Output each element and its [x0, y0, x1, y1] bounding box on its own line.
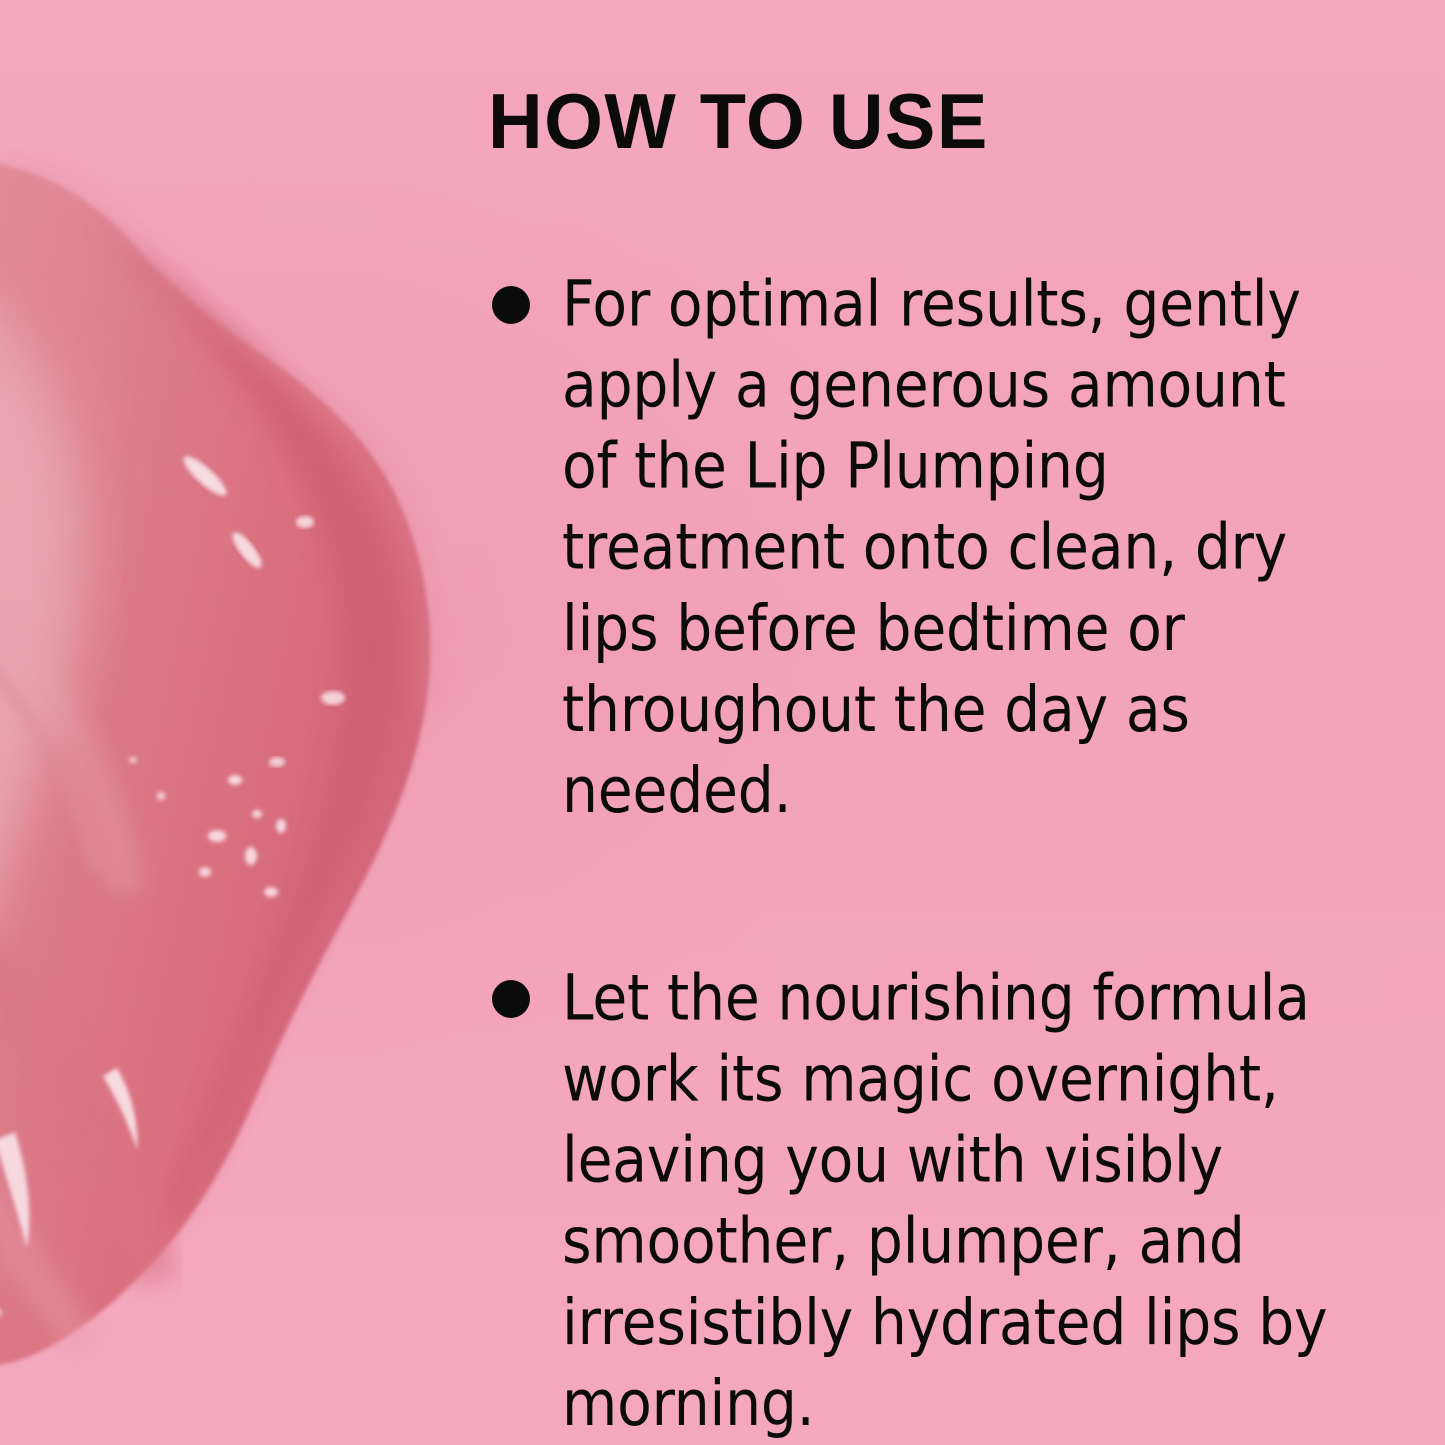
lip-gloss-swatch: [0, 150, 465, 1445]
instruction-text: Let the nourishing formula work its magi…: [562, 958, 1332, 1445]
instructions-panel: HOW TO USE For optimal results, gently a…: [470, 64, 1390, 1394]
list-item: For optimal results, gently apply a gene…: [470, 264, 1390, 810]
instructions-list: For optimal results, gently apply a gene…: [470, 264, 1390, 1426]
list-item: Let the nourishing formula work its magi…: [470, 958, 1390, 1426]
page-title: HOW TO USE: [488, 64, 1363, 160]
instruction-text: For optimal results, gently apply a gene…: [562, 264, 1332, 832]
bullet-dot-icon: [492, 980, 530, 1018]
bullet-dot-icon: [492, 286, 530, 324]
product-how-to-use-panel: HOW TO USE For optimal results, gently a…: [0, 0, 1445, 1445]
